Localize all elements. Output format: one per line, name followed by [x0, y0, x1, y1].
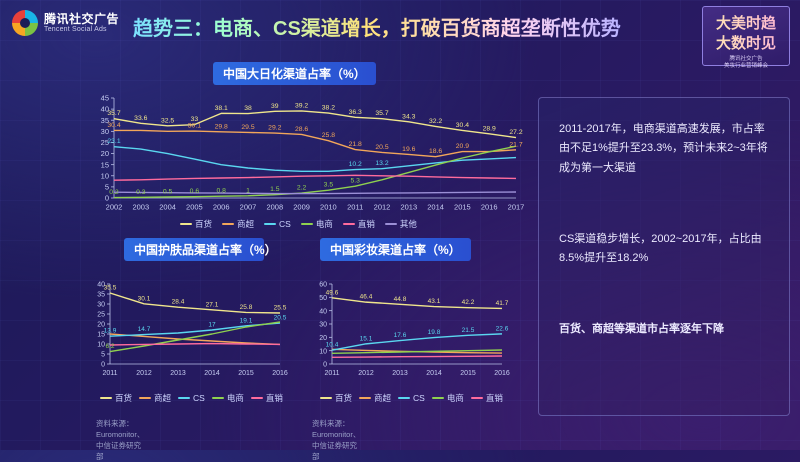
legend-label: 直销: [486, 392, 503, 404]
legend-label: 百货: [195, 218, 212, 230]
svg-text:42.2: 42.2: [462, 299, 475, 306]
svg-text:2008: 2008: [266, 203, 283, 212]
svg-text:14.7: 14.7: [138, 326, 151, 333]
svg-text:19.8: 19.8: [428, 329, 441, 336]
svg-text:2014: 2014: [426, 370, 442, 377]
svg-text:29.5: 29.5: [241, 124, 254, 131]
svg-text:25: 25: [97, 312, 105, 319]
legend-item-电商: 电商: [212, 392, 244, 404]
svg-text:28.4: 28.4: [172, 299, 185, 306]
svg-text:49.6: 49.6: [326, 289, 339, 296]
svg-text:30.1: 30.1: [138, 295, 151, 302]
svg-text:0.5: 0.5: [163, 188, 173, 195]
svg-text:29.8: 29.8: [215, 123, 228, 130]
legend-item-直销: 直销: [251, 392, 283, 404]
svg-text:2011: 2011: [324, 370, 339, 377]
svg-text:39: 39: [271, 103, 279, 110]
svg-text:2016: 2016: [481, 203, 498, 212]
svg-text:36.3: 36.3: [349, 109, 362, 116]
legend-label: CS: [193, 393, 205, 403]
svg-text:23.1: 23.1: [107, 138, 120, 145]
svg-text:25.8: 25.8: [322, 132, 335, 139]
svg-text:2010: 2010: [320, 203, 337, 212]
svg-text:10: 10: [319, 348, 327, 355]
source-skincare: 资料来源：Euromonitor、中信证券研究部: [96, 418, 144, 462]
legend-label: 电商: [316, 218, 333, 230]
svg-text:2002: 2002: [106, 203, 123, 212]
svg-text:2006: 2006: [213, 203, 230, 212]
legend-item-百货: 百货: [100, 392, 132, 404]
chart-plot-daily-chemical: 0510152025303540452002200320042005200620…: [90, 84, 530, 214]
svg-text:10: 10: [97, 342, 105, 349]
svg-text:20.5: 20.5: [274, 315, 287, 322]
svg-text:10.4: 10.4: [326, 342, 339, 349]
svg-text:35.7: 35.7: [375, 110, 388, 117]
svg-text:13.2: 13.2: [375, 160, 388, 167]
svg-text:38.1: 38.1: [215, 105, 228, 112]
logo-text-en: Tencent Social Ads: [44, 26, 119, 33]
svg-text:30.4: 30.4: [107, 122, 120, 129]
svg-text:2012: 2012: [358, 370, 374, 377]
legend-label: CS: [279, 219, 291, 229]
svg-text:38: 38: [244, 105, 252, 112]
legend-swatch-icon: [139, 397, 151, 399]
chart-legend-skincare: 百货商超CS电商直销: [100, 392, 283, 404]
badge-line1: 大美时趋: [703, 12, 789, 33]
brand-logo: 腾讯社交广告 Tencent Social Ads: [12, 10, 119, 36]
svg-text:39.2: 39.2: [295, 102, 308, 109]
svg-text:21.5: 21.5: [462, 327, 475, 334]
svg-text:6.2: 6.2: [105, 343, 114, 350]
svg-text:5: 5: [101, 352, 105, 359]
legend-item-其他: 其他: [385, 218, 417, 230]
legend-item-商超: 商超: [222, 218, 254, 230]
chart-title-daily-chemical: 中国大日化渠道占率（%）: [213, 62, 376, 85]
svg-text:40: 40: [319, 308, 327, 315]
legend-item-商超: 商超: [139, 392, 171, 404]
header: 腾讯社交广告 Tencent Social Ads 趋势三：电商、CS渠道增长，…: [0, 0, 800, 48]
legend-label: 商超: [374, 392, 391, 404]
legend-item-CS: CS: [178, 393, 205, 403]
svg-text:2007: 2007: [240, 203, 257, 212]
svg-text:41.7: 41.7: [496, 300, 509, 307]
svg-text:27.2: 27.2: [509, 129, 522, 136]
svg-text:5.3: 5.3: [350, 178, 360, 185]
badge-subtitle: 腾讯社交广告美妆行业营销峰会: [703, 56, 789, 70]
svg-text:0.2: 0.2: [109, 189, 119, 196]
chart-title-makeup: 中国彩妆渠道占率（%）: [320, 238, 471, 261]
svg-text:46.4: 46.4: [360, 294, 373, 301]
svg-text:20: 20: [101, 149, 109, 158]
legend-swatch-icon: [343, 223, 355, 225]
svg-text:19.1: 19.1: [240, 317, 253, 324]
svg-text:0: 0: [323, 362, 327, 369]
legend-swatch-icon: [320, 397, 332, 399]
legend-item-电商: 电商: [301, 218, 333, 230]
logo-text-cn: 腾讯社交广告: [44, 13, 119, 26]
svg-text:38.2: 38.2: [322, 105, 335, 112]
legend-item-电商: 电商: [432, 392, 464, 404]
svg-text:29.2: 29.2: [268, 125, 281, 132]
legend-label: 电商: [227, 392, 244, 404]
svg-text:25.8: 25.8: [240, 304, 253, 311]
insight-paragraph-1: 2011-2017年，电商渠道高速发展，市占率由不足1%提升至23.3%，预计未…: [559, 120, 771, 178]
svg-text:2015: 2015: [238, 370, 254, 377]
legend-label: CS: [413, 393, 425, 403]
svg-text:2012: 2012: [136, 370, 152, 377]
svg-text:2015: 2015: [460, 370, 476, 377]
svg-text:27.1: 27.1: [206, 301, 219, 308]
svg-text:10.2: 10.2: [349, 161, 362, 168]
legend-label: 电商: [447, 392, 464, 404]
insight-text-1: 2011-2017年，电商渠道高速发展，市占率由不足1%提升至23.3%，预计未…: [559, 120, 771, 178]
svg-text:35.7: 35.7: [107, 110, 120, 117]
svg-text:1: 1: [246, 187, 250, 194]
legend-swatch-icon: [100, 397, 112, 399]
svg-text:30.1: 30.1: [188, 123, 201, 130]
svg-text:2013: 2013: [392, 370, 408, 377]
svg-text:0.3: 0.3: [136, 189, 146, 196]
svg-text:2016: 2016: [272, 370, 288, 377]
svg-text:2005: 2005: [186, 203, 203, 212]
legend-item-CS: CS: [264, 219, 291, 229]
svg-text:30: 30: [97, 302, 105, 309]
svg-text:25.5: 25.5: [274, 305, 287, 312]
legend-label: 百货: [115, 392, 132, 404]
svg-text:2004: 2004: [159, 203, 176, 212]
svg-text:43.1: 43.1: [428, 298, 441, 305]
svg-text:10: 10: [101, 171, 109, 180]
insight-text-3: 百货、商超等渠道市占率逐年下降: [559, 320, 771, 339]
chart-title-skincare: 中国护肤品渠道占率（%）: [124, 238, 264, 261]
insight-paragraph-3: 百货、商超等渠道市占率逐年下降: [559, 320, 771, 339]
legend-label: 其他: [400, 218, 417, 230]
legend-label: 直销: [358, 218, 375, 230]
svg-text:19.6: 19.6: [402, 146, 415, 153]
svg-text:20.9: 20.9: [456, 143, 469, 150]
legend-swatch-icon: [222, 223, 234, 225]
legend-swatch-icon: [301, 223, 313, 225]
svg-text:32.5: 32.5: [161, 117, 174, 124]
insight-text-2: CS渠道稳步增长，2002~2017年，占比由8.5%提升至18.2%: [559, 230, 771, 269]
chart-legend-daily-chemical: 百货商超CS电商直销其他: [180, 218, 417, 230]
legend-item-百货: 百货: [180, 218, 212, 230]
svg-text:2014: 2014: [427, 203, 444, 212]
legend-label: 直销: [266, 392, 283, 404]
svg-text:28.6: 28.6: [295, 126, 308, 133]
legend-item-百货: 百货: [320, 392, 352, 404]
legend-swatch-icon: [178, 397, 190, 399]
legend-label: 商超: [237, 218, 254, 230]
svg-text:21.8: 21.8: [349, 141, 362, 148]
legend-item-直销: 直销: [471, 392, 503, 404]
legend-swatch-icon: [264, 223, 276, 225]
legend-item-CS: CS: [398, 393, 425, 403]
svg-text:2003: 2003: [132, 203, 149, 212]
legend-swatch-icon: [385, 223, 397, 225]
insight-paragraph-2: CS渠道稳步增长，2002~2017年，占比由8.5%提升至18.2%: [559, 230, 771, 269]
svg-text:30.4: 30.4: [456, 122, 469, 129]
svg-text:17: 17: [208, 322, 216, 329]
svg-text:34.3: 34.3: [402, 113, 415, 120]
source-makeup: 资料来源：Euromonitor、中信证券研究部: [312, 418, 360, 462]
svg-text:35.5: 35.5: [104, 285, 117, 292]
svg-text:2009: 2009: [293, 203, 310, 212]
insight-card: 2011-2017年，电商渠道高速发展，市占率由不足1%提升至23.3%，预计未…: [538, 97, 790, 416]
svg-text:2011: 2011: [347, 203, 363, 212]
svg-text:20.5: 20.5: [375, 144, 388, 151]
svg-text:0.8: 0.8: [216, 188, 226, 195]
svg-text:44.8: 44.8: [394, 296, 407, 303]
svg-text:28.9: 28.9: [483, 125, 496, 132]
svg-text:30: 30: [319, 322, 327, 329]
svg-text:0: 0: [101, 362, 105, 369]
chart-plot-skincare: 0510152025303540201120122013201420152016…: [90, 272, 290, 380]
tencent-logo-icon: [12, 10, 38, 36]
chart-legend-makeup: 百货商超CS电商直销: [320, 392, 503, 404]
legend-label: 百货: [335, 392, 352, 404]
svg-text:2.2: 2.2: [297, 185, 307, 192]
legend-swatch-icon: [251, 397, 263, 399]
svg-text:2013: 2013: [400, 203, 417, 212]
svg-text:21.7: 21.7: [509, 141, 522, 148]
legend-item-直销: 直销: [343, 218, 375, 230]
svg-text:15.1: 15.1: [360, 335, 373, 342]
svg-text:2016: 2016: [494, 370, 510, 377]
svg-text:22.6: 22.6: [496, 325, 509, 332]
page-title: 趋势三：电商、CS渠道增长，打破百货商超垄断性优势: [133, 12, 621, 41]
svg-text:2017: 2017: [508, 203, 525, 212]
legend-label: 商超: [154, 392, 171, 404]
svg-text:13.9: 13.9: [104, 328, 117, 335]
svg-text:35: 35: [97, 292, 105, 299]
svg-text:18.6: 18.6: [429, 148, 442, 155]
svg-text:2013: 2013: [170, 370, 186, 377]
svg-text:60: 60: [319, 282, 327, 289]
legend-item-商超: 商超: [359, 392, 391, 404]
svg-text:33.6: 33.6: [134, 115, 147, 122]
chart-plot-makeup: 010203040506020112012201320142015201649.…: [312, 272, 512, 380]
svg-text:1.5: 1.5: [270, 186, 280, 193]
event-badge: 大美时趋 大数时见 腾讯社交广告美妆行业营销峰会: [702, 6, 790, 66]
legend-swatch-icon: [180, 223, 192, 225]
badge-line2: 大数时见: [703, 32, 789, 53]
legend-swatch-icon: [432, 397, 444, 399]
svg-text:17.6: 17.6: [394, 332, 407, 339]
svg-text:2011: 2011: [102, 370, 117, 377]
legend-swatch-icon: [212, 397, 224, 399]
svg-text:2014: 2014: [204, 370, 220, 377]
svg-text:45: 45: [101, 94, 109, 103]
svg-text:0.6: 0.6: [190, 188, 200, 195]
legend-swatch-icon: [359, 397, 371, 399]
svg-text:32.2: 32.2: [429, 118, 442, 125]
legend-swatch-icon: [398, 397, 410, 399]
svg-text:2012: 2012: [374, 203, 391, 212]
legend-swatch-icon: [471, 397, 483, 399]
svg-text:2015: 2015: [454, 203, 471, 212]
svg-text:15: 15: [101, 160, 109, 169]
svg-text:3.5: 3.5: [324, 182, 334, 189]
